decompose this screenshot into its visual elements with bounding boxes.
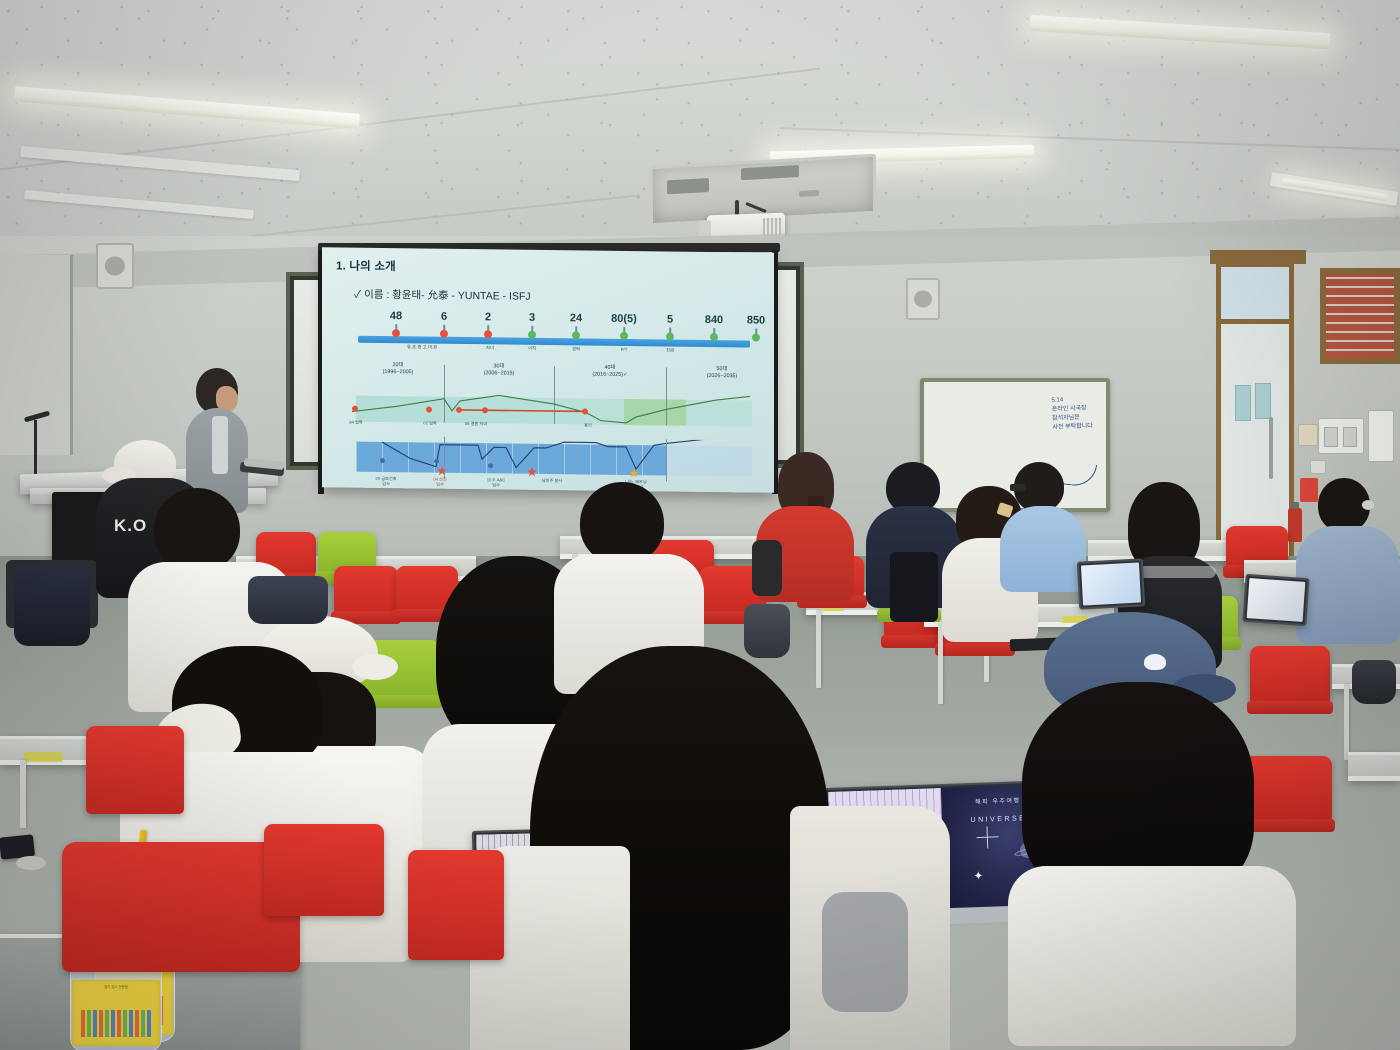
cap-brim: [352, 654, 398, 680]
fire-extinguisher: [1288, 508, 1302, 542]
cup-label: 딸기 쥬스 전문점: [72, 980, 160, 1046]
door-header: [1210, 250, 1306, 264]
bag: [744, 604, 790, 658]
timeline-node: [440, 330, 448, 338]
bag-strap: [822, 892, 908, 1012]
door-sign: [1255, 383, 1271, 419]
milestone-star: ★: [436, 464, 448, 477]
wall-control-panel[interactable]: [1318, 418, 1364, 454]
chair[interactable]: [1250, 646, 1330, 704]
whiteboard-note: 5.14 온라인 시국장 참석자님은 사전 부탁합니다: [1051, 395, 1093, 432]
table-leg: [816, 610, 821, 688]
wall-notice: [1368, 410, 1394, 462]
brick-wall-outside: [1326, 274, 1394, 358]
emergency-sign: [1300, 478, 1318, 502]
wall-speaker: [906, 278, 940, 320]
cap-logo: [1144, 654, 1166, 670]
speaker-cone: [105, 257, 125, 276]
wall-speaker: [96, 243, 134, 289]
timeline-node: [666, 332, 674, 340]
blackboard-surface: [776, 270, 796, 460]
whiteboard-note-line: 사전 부탁합니다: [1052, 423, 1092, 430]
timeline-value: 5: [667, 313, 673, 325]
cup-label-art: [81, 1010, 151, 1036]
whiteboard-note-line: 5.14: [1051, 397, 1063, 403]
event-label: 남미주 봉사: [542, 478, 562, 484]
slide-timeline: 48 유.초.중.고.대.원 6 2 자녀 3 이직 24 경력: [336, 317, 760, 362]
laptop-right-rear[interactable]: [1077, 558, 1145, 609]
projector-lens: [699, 220, 711, 236]
chart-dot-label: 02 입학: [423, 420, 437, 426]
classroom-photo: 1. 나의 소개 ✓ 이름 : 황윤태- 允泰 - YUNTAE - ISFJ …: [0, 0, 1400, 1050]
coaster: [16, 856, 46, 870]
event-line1: 남미주 봉사: [542, 478, 562, 483]
hair: [580, 482, 664, 564]
timeline-value: 24: [570, 312, 582, 324]
milestone-star: ★: [628, 466, 640, 479]
career-chart-lower: ★ ★ ★ 20 금호건축 입사 04 선진 입사 10 P-A&C 입사: [336, 435, 760, 502]
timeline-value: 850: [747, 314, 765, 326]
mask-edge: [1362, 500, 1374, 510]
timeline-node: [484, 330, 492, 338]
timeline-value: 840: [705, 314, 723, 326]
speaker-cone: [914, 290, 932, 307]
chair[interactable]: [408, 850, 504, 960]
blackboard-surface: [294, 280, 318, 462]
event-label: 10 P-A&C 입사: [487, 477, 506, 488]
slide-subtitle: ✓ 이름 : 황윤태- 允泰 - YUNTAE - ISFJ: [354, 287, 760, 307]
cup-label-text: 딸기 쥬스 전문점: [72, 984, 160, 989]
lightblue-shirt: [1000, 506, 1086, 592]
timeline-value: 80(5): [611, 313, 637, 325]
event-line2: 입사: [492, 483, 500, 488]
chair[interactable]: [334, 566, 398, 614]
timeline-node: [392, 329, 400, 337]
door-handle[interactable]: [1269, 417, 1273, 479]
timeline-node: [620, 332, 628, 340]
whiteboard-note-line: 온라인 시국장: [1051, 405, 1086, 412]
backpack: [14, 564, 90, 646]
denim-shirt: [1296, 526, 1400, 644]
wallpaper-text: UNIVERSE: [970, 815, 1026, 824]
laptop-screen: [1247, 578, 1306, 622]
backpack: [248, 576, 328, 624]
timeline-label: P/T: [621, 347, 628, 352]
chart-dot-label: 94 입학: [349, 420, 363, 426]
timeline-label: 이직: [528, 346, 536, 352]
presenter-shirt: [212, 416, 228, 474]
door-sign: [1235, 385, 1251, 421]
chair[interactable]: [86, 726, 184, 814]
green-trend-line: [336, 361, 760, 438]
torso-shadow: [890, 552, 938, 622]
jacket-logo-text: K.O: [114, 516, 150, 534]
chart-dot-label: 06 결혼 자녀: [465, 421, 487, 427]
timeline-value: 48: [390, 310, 402, 322]
slide-title: 1. 나의 소개: [336, 257, 760, 278]
whiteboard-note-line: 참석자님은: [1052, 415, 1080, 422]
chair[interactable]: [264, 824, 384, 916]
timeline-label: 경력: [572, 346, 580, 352]
wall-outlet[interactable]: [1310, 460, 1326, 474]
exterior-window: [1320, 268, 1400, 364]
chart-dot-label: 용인: [584, 422, 592, 428]
whiteboard-arrow: [1060, 461, 1097, 488]
event-label: 04 선진 입사: [433, 477, 447, 488]
timeline-node: [528, 331, 536, 339]
white-top: [1008, 866, 1296, 1046]
compass-icon: [976, 826, 999, 849]
timeline-node: [752, 333, 760, 341]
glasses: [1010, 484, 1026, 491]
projection-screen: 1. 나의 소개 ✓ 이름 : 황윤태- 允泰 - YUNTAE - ISFJ …: [322, 247, 774, 493]
event-label: 20 금호건축 입사: [375, 476, 396, 487]
classroom-door[interactable]: [1216, 262, 1294, 562]
timeline-value: 3: [529, 312, 535, 324]
career-chart-upper: 20대 (1996~2005) 30대 (2006~2015) 40대 (201…: [336, 361, 760, 438]
timeline-value: 6: [441, 311, 447, 323]
timeline-value: 2: [485, 311, 491, 323]
timeline-label: 자녀: [486, 345, 494, 351]
milestone-star: ★: [526, 465, 538, 478]
table-sticker: [24, 752, 62, 762]
wall-switch[interactable]: [1298, 424, 1318, 446]
table-leg: [1344, 684, 1349, 760]
timeline-node: [572, 331, 580, 339]
event-line2: 입사: [436, 482, 444, 487]
laptop-far-right[interactable]: [1242, 574, 1309, 626]
table-leg: [20, 760, 26, 828]
bag: [1352, 660, 1396, 704]
hair: [154, 488, 240, 572]
presentation-slide: 1. 나의 소개 ✓ 이름 : 황윤태- 允泰 - YUNTAE - ISFJ …: [322, 247, 774, 493]
event-line2: 입사: [382, 481, 390, 486]
wallpaper-subtext: 해피 우주여행: [975, 795, 1021, 806]
timeline-node: [710, 333, 718, 341]
laptop-screen: [1081, 563, 1141, 606]
table-right-corner: [1348, 752, 1400, 781]
timeline-label: 유.초.중.고.대.원: [407, 344, 437, 350]
backpack-strap: [752, 540, 782, 596]
door-transom-window: [1221, 267, 1289, 324]
star-icon: ✦: [973, 868, 984, 882]
timeline-label: 진급: [666, 347, 674, 353]
